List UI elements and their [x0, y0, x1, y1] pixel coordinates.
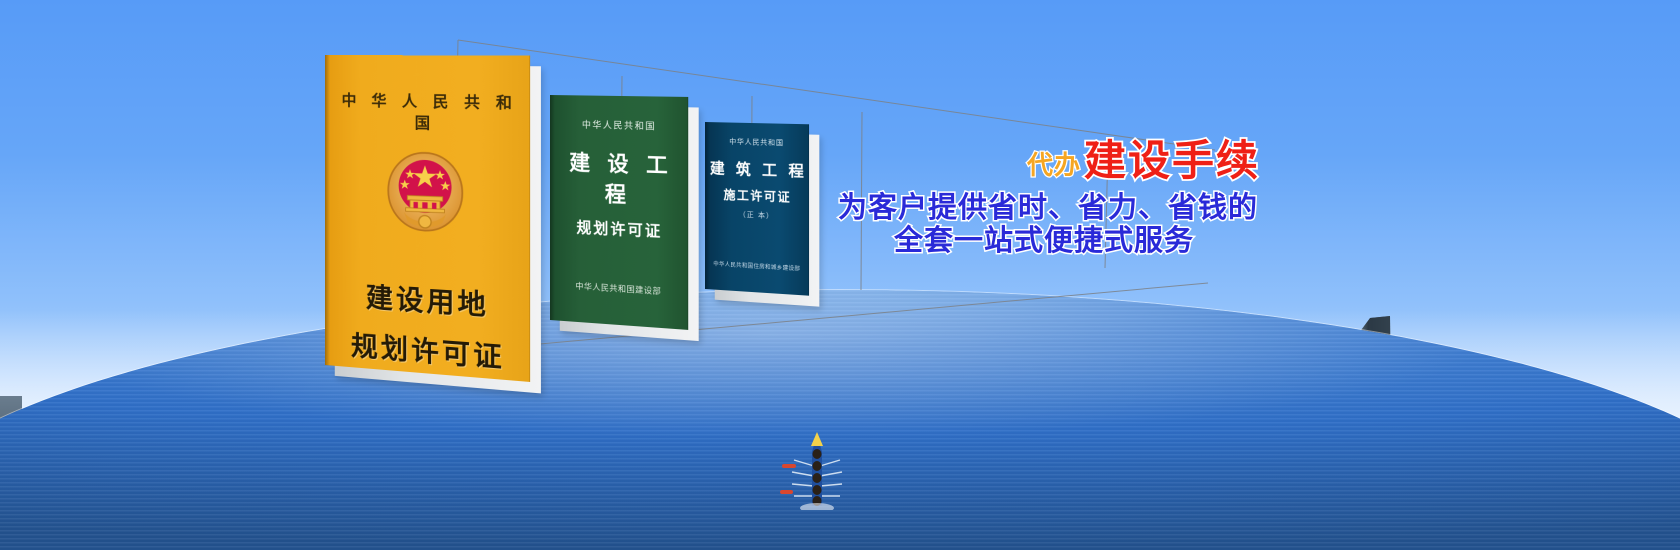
headline-subtitle-line1: 为客户提供省时、省力、省钱的 [838, 191, 1268, 223]
certificate-volume-label: （正 本） [705, 208, 809, 223]
national-emblem-icon [381, 146, 469, 238]
certificate-cover: 中 华 人 民 共 和 国 [325, 55, 530, 382]
certificate-construction-work-permit: 中华人民共和国 建 筑 工 程 施工许可证 （正 本） 中华人民共和国住房和城乡… [705, 122, 809, 296]
certificate-cover: 中华人民共和国 建 设 工 程 规划许可证 中华人民共和国建设部 [550, 95, 688, 330]
certificate-nation-line: 中华人民共和国 [550, 117, 688, 133]
certificate-issuer: 中华人民共和国住房和城乡建设部 [705, 259, 809, 273]
certificate-nation-line: 中 华 人 民 共 和 国 [325, 89, 530, 136]
certificate-title-line1: 建设用地 [325, 273, 530, 326]
rowing-boat-icon [762, 420, 872, 510]
certificate-construction-planning-permit: 中华人民共和国 建 设 工 程 规划许可证 中华人民共和国建设部 [550, 95, 688, 330]
certificate-title-line1: 建 筑 工 程 [705, 157, 809, 182]
promo-banner: 中 华 人 民 共 和 国 [0, 0, 1680, 550]
headline-title: 建设手续 [1084, 140, 1260, 182]
certificate-issuer: 中华人民共和国建设部 [550, 279, 688, 299]
certificate-title-line1: 建 设 工 程 [550, 146, 688, 212]
certificate-land-use-planning-permit: 中 华 人 民 共 和 国 [325, 55, 530, 382]
certificate-nation-line: 中华人民共和国 [705, 136, 809, 149]
certificate-spine [325, 55, 330, 365]
certificate-cover: 中华人民共和国 建 筑 工 程 施工许可证 （正 本） 中华人民共和国住房和城乡… [705, 122, 809, 296]
headline-subtitle-line2: 全套一站式便捷式服务 [838, 224, 1268, 256]
certificate-title-line2: 施工许可证 [705, 185, 809, 206]
headline-block: 代办 建设手续 为客户提供省时、省力、省钱的 全套一站式便捷式服务 [838, 140, 1268, 257]
certificate-title-line2: 规划许可证 [550, 215, 688, 243]
headline-kicker: 代办 [1027, 153, 1081, 179]
headline-main-row: 代办 建设手续 [838, 140, 1268, 182]
